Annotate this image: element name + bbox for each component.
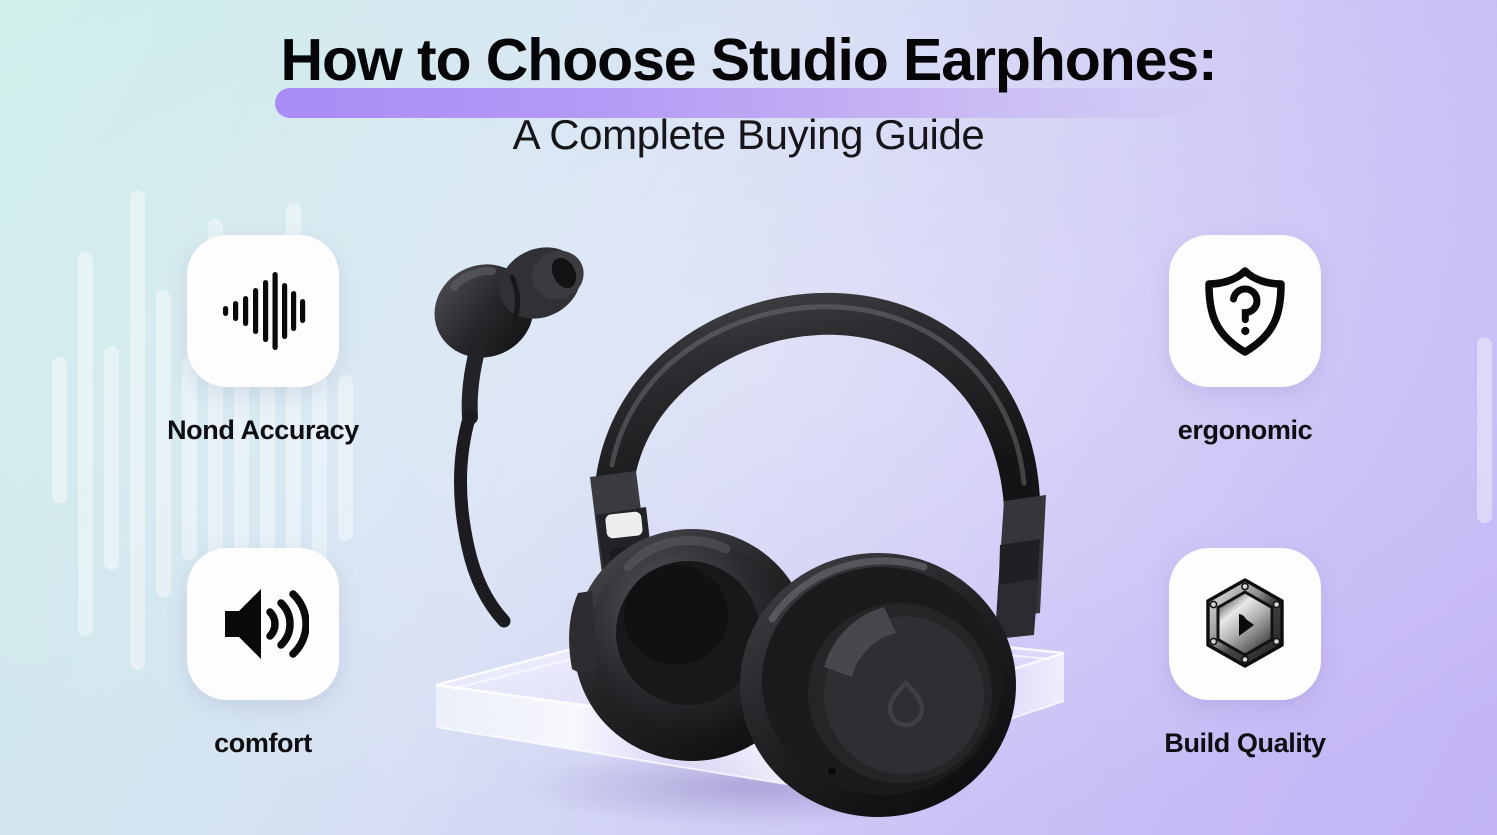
waveform-bar [104, 346, 119, 570]
title-wrap: How to Choose Studio Earphones: [270, 30, 1226, 92]
feature-icon-tile[interactable] [1169, 235, 1321, 387]
feature-comfort[interactable]: comfort [138, 548, 388, 759]
product-image-headphones [400, 215, 1100, 835]
page-subtitle: A Complete Buying Guide [0, 112, 1497, 158]
feature-ergonomic[interactable]: ergonomic [1120, 235, 1370, 446]
earbud [420, 234, 592, 621]
shield-question-icon [1198, 264, 1292, 358]
feature-label: Build Quality [1120, 728, 1370, 759]
speaker-volume-icon [217, 578, 309, 670]
waveform-bar [1477, 337, 1492, 523]
right-earcup [740, 553, 1016, 817]
feature-label: Nond Accuracy [138, 415, 388, 446]
feature-sound-accuracy[interactable]: Nond Accuracy [138, 235, 388, 446]
waveform-bar [52, 356, 67, 503]
feature-label: ergonomic [1120, 415, 1370, 446]
page-title: How to Choose Studio Earphones: [270, 30, 1226, 92]
feature-build-quality[interactable]: Build Quality [1120, 548, 1370, 759]
feature-label: comfort [138, 728, 388, 759]
feature-icon-tile[interactable] [1169, 548, 1321, 700]
feature-icon-tile[interactable] [187, 235, 339, 387]
waveform-icon [215, 263, 311, 359]
headline-block: How to Choose Studio Earphones: A Comple… [0, 30, 1497, 158]
feature-icon-tile[interactable] [187, 548, 339, 700]
hero-banner: How to Choose Studio Earphones: A Comple… [0, 0, 1497, 835]
waveform-bar [78, 252, 93, 636]
hex-badge-icon [1196, 575, 1294, 673]
